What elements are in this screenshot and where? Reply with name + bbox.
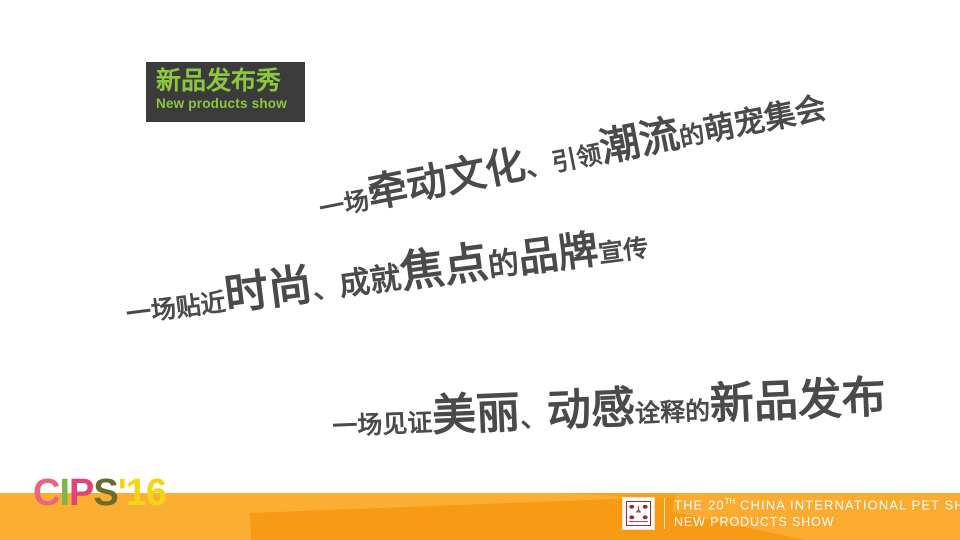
headline-2-seg-8: 宣传: [597, 234, 650, 268]
headline-3-seg-3: 、: [520, 402, 548, 433]
headline-3-seg-2: 美丽: [431, 388, 521, 441]
headline-3-seg-6: 的: [685, 397, 711, 426]
headline-2-seg-2: 时尚: [222, 260, 316, 320]
headline-1-seg-7: 萌宠集会: [700, 90, 828, 148]
headline-1-seg-1: 一场: [317, 186, 372, 223]
footer-divider: [664, 498, 665, 529]
footer-event-title-prefix: THE 20: [674, 497, 725, 512]
headline-3-seg-4: 动感: [546, 383, 636, 436]
headline-line-2: 一场贴近时尚、成就焦点的品牌宣传: [121, 205, 651, 335]
cips-emblem-icon: [622, 497, 655, 530]
slide-canvas: 新品发布秀 New products show 一场牵动文化、引领潮流的萌宠集会…: [0, 0, 960, 540]
section-label-title-en: New products show: [156, 95, 305, 112]
headline-2-seg-1: 一场贴近: [125, 288, 228, 328]
cips-letter-i: I: [59, 474, 69, 512]
cips-emblem-inner-frame: [626, 501, 651, 526]
footer-event-info: THE 20TH CHINA INTERNATIONAL PET SHOW NE…: [622, 497, 960, 530]
headline-1-seg-4: 引领: [550, 140, 605, 177]
headline-line-3: 一场见证美丽、动感诠释的新品发布: [331, 361, 887, 448]
headline-3-seg-1: 一场见证: [332, 409, 433, 441]
paw-marks-icon: [627, 502, 650, 525]
headline-1-seg-5: 潮流: [596, 112, 683, 171]
cips-year: 16: [126, 474, 166, 512]
headline-2-seg-6: 的: [486, 245, 521, 284]
footer-text-block: THE 20TH CHINA INTERNATIONAL PET SHOW NE…: [674, 498, 960, 529]
section-label-box: 新品发布秀 New products show: [146, 62, 305, 122]
cips-letter-c: C: [33, 474, 59, 512]
footer-event-title: THE 20TH CHINA INTERNATIONAL PET SHOW: [674, 498, 960, 511]
headline-2-seg-3: 、: [311, 272, 342, 305]
footer-event-title-ordinal: TH: [725, 497, 736, 506]
footer-event-subtitle: NEW PRODUCTS SHOW: [674, 516, 960, 529]
section-label-title-cn: 新品发布秀: [156, 67, 305, 95]
footer-event-title-suffix: CHINA INTERNATIONAL PET SHOW: [735, 497, 960, 512]
cips-letter-p: P: [69, 474, 93, 512]
headline-2-seg-5: 焦点: [397, 238, 491, 298]
headline-3-seg-5: 诠释: [635, 398, 686, 428]
cips-wordmark-logo: CIPS'16: [33, 474, 166, 512]
headline-line-1: 一场牵动文化、引领潮流的萌宠集会: [312, 72, 829, 229]
headline-2-seg-7: 品牌: [516, 228, 601, 282]
headline-2-seg-4: 成就: [337, 260, 403, 303]
cips-apostrophe: ': [118, 474, 126, 512]
cips-letter-s: S: [93, 474, 117, 512]
headline-1-seg-2: 牵动文化: [364, 143, 529, 217]
headline-3-seg-7: 新品发布: [709, 373, 887, 429]
